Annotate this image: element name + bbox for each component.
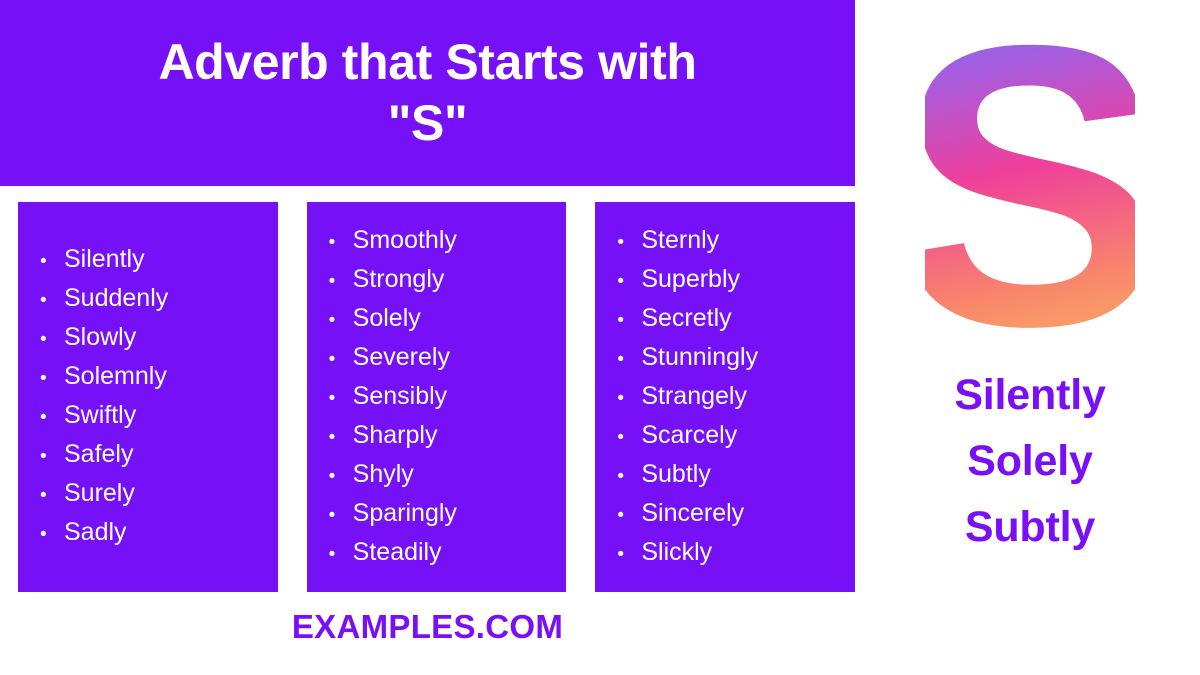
list-item[interactable]: • Surely [40,475,264,514]
bullet-icon: • [40,477,64,514]
word-label: Stunningly [641,339,758,376]
bullet-icon: • [329,536,353,573]
word-label: Steadily [353,534,442,571]
bullet-icon: • [617,263,641,300]
bullet-icon: • [617,419,641,456]
word-label: Sensibly [353,378,448,415]
list-item[interactable]: • Slickly [617,534,841,573]
svg-text:S: S [925,28,1135,346]
list-item[interactable]: • Strongly [329,261,553,300]
highlight-word: Solely [860,428,1200,494]
bullet-icon: • [329,497,353,534]
word-list-3: • Sternly • Superbly • Secretly • Stunni… [617,222,841,573]
bullet-icon: • [617,380,641,417]
bullet-icon: • [617,497,641,534]
bullet-icon: • [40,399,64,436]
word-label: Swiftly [64,397,136,434]
bullet-icon: • [40,243,64,280]
bullet-icon: • [329,224,353,261]
list-item[interactable]: • Suddenly [40,280,264,319]
word-label: Slickly [641,534,712,571]
list-item[interactable]: • Sharply [329,417,553,456]
list-item[interactable]: • Stunningly [617,339,841,378]
highlight-word: Silently [860,362,1200,428]
word-label: Shyly [353,456,414,493]
bullet-icon: • [329,263,353,300]
list-item[interactable]: • Secretly [617,300,841,339]
bullet-icon: • [617,458,641,495]
word-label: Suddenly [64,280,168,317]
bullet-icon: • [40,516,64,553]
list-item[interactable]: • Smoothly [329,222,553,261]
word-label: Solely [353,300,421,337]
page-title: Adverb that Starts with "S" [158,32,696,154]
word-label: Secretly [641,300,731,337]
list-item[interactable]: • Sparingly [329,495,553,534]
word-label: Strangely [641,378,747,415]
bullet-icon: • [617,302,641,339]
list-item[interactable]: • Steadily [329,534,553,573]
bullet-icon: • [40,282,64,319]
word-panels: • Silently • Suddenly • Slowly • Solemnl… [18,202,855,592]
header-band: Adverb that Starts with "S" [0,0,855,186]
bullet-icon: • [329,380,353,417]
word-panel-3: • Sternly • Superbly • Secretly • Stunni… [595,202,855,592]
word-label: Silently [64,241,145,278]
list-item[interactable]: • Swiftly [40,397,264,436]
word-panel-1: • Silently • Suddenly • Slowly • Solemnl… [18,202,278,592]
bullet-icon: • [329,302,353,339]
word-label: Strongly [353,261,445,298]
word-label: Sternly [641,222,719,259]
list-item[interactable]: • Solely [329,300,553,339]
word-label: Safely [64,436,133,473]
list-item[interactable]: • Silently [40,241,264,280]
list-item[interactable]: • Severely [329,339,553,378]
bullet-icon: • [40,438,64,475]
bullet-icon: • [617,341,641,378]
bullet-icon: • [329,341,353,378]
list-item[interactable]: • Sternly [617,222,841,261]
footer-brand[interactable]: EXAMPLES.COM [0,604,855,650]
right-rail: S Silently Solely Subtly [860,0,1200,675]
bullet-icon: • [329,419,353,456]
word-label: Sadly [64,514,127,551]
bullet-icon: • [617,224,641,261]
list-item[interactable]: • Strangely [617,378,841,417]
bullet-icon: • [40,321,64,358]
bullet-icon: • [617,536,641,573]
list-item[interactable]: • Solemnly [40,358,264,397]
list-item[interactable]: • Safely [40,436,264,475]
word-label: Surely [64,475,135,512]
word-label: Sharply [353,417,438,454]
list-item[interactable]: • Subtly [617,456,841,495]
list-item[interactable]: • Sensibly [329,378,553,417]
highlight-word: Subtly [860,494,1200,560]
list-item[interactable]: • Sadly [40,514,264,553]
infographic-page: Adverb that Starts with "S" • Silently •… [0,0,1200,675]
list-item[interactable]: • Slowly [40,319,264,358]
word-label: Subtly [641,456,710,493]
list-item[interactable]: • Sincerely [617,495,841,534]
list-item[interactable]: • Shyly [329,456,553,495]
list-item[interactable]: • Scarcely [617,417,841,456]
word-label: Solemnly [64,358,167,395]
word-label: Slowly [64,319,136,356]
word-panel-2: • Smoothly • Strongly • Solely • Severel… [307,202,567,592]
word-label: Scarcely [641,417,737,454]
highlight-word-list: Silently Solely Subtly [860,362,1200,560]
word-list-1: • Silently • Suddenly • Slowly • Solemnl… [40,241,264,553]
word-label: Sincerely [641,495,744,532]
word-label: Severely [353,339,450,376]
letter-s-gradient-logo: S [925,28,1135,346]
word-label: Superbly [641,261,740,298]
word-label: Smoothly [353,222,457,259]
word-label: Sparingly [353,495,457,532]
list-item[interactable]: • Superbly [617,261,841,300]
bullet-icon: • [329,458,353,495]
word-list-2: • Smoothly • Strongly • Solely • Severel… [329,222,553,573]
bullet-icon: • [40,360,64,397]
